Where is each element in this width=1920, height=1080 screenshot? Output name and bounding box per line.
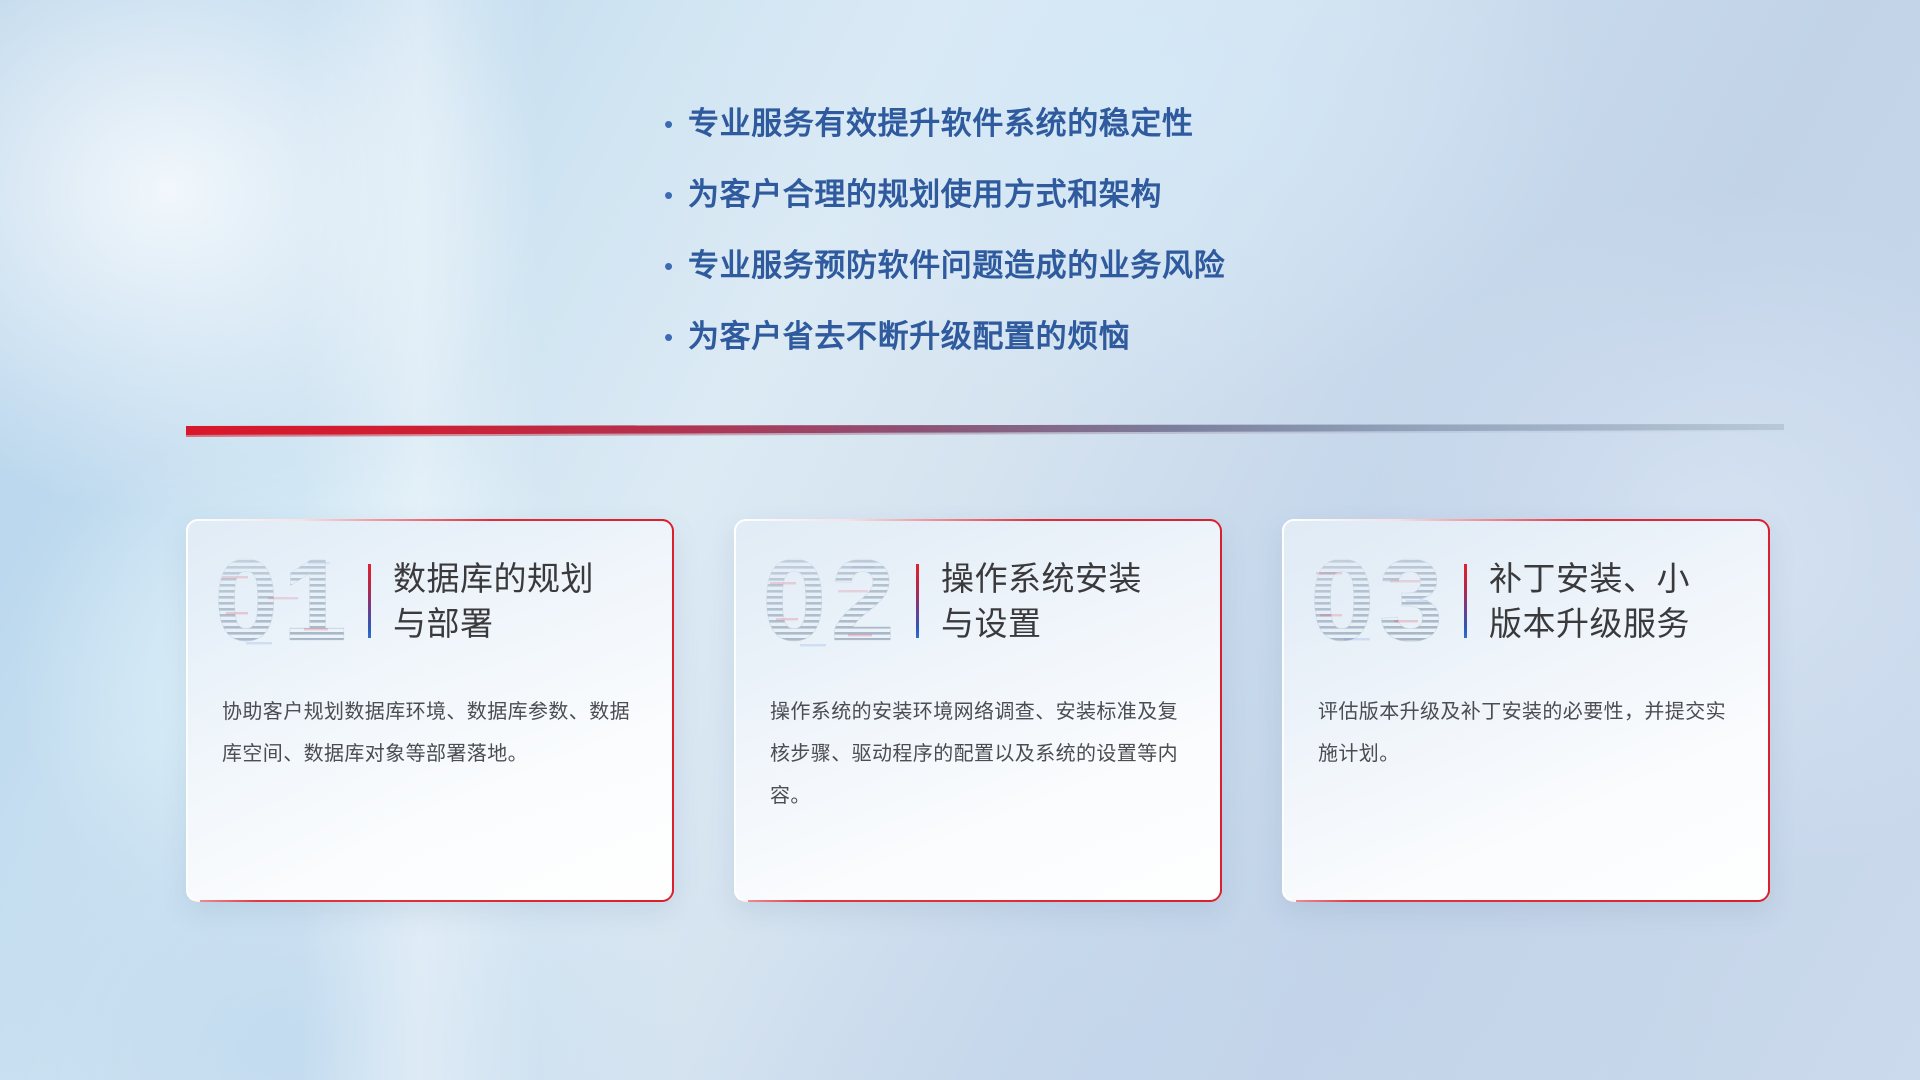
benefit-bullet-list: • 专业服务有效提升软件系统的稳定性 • 为客户合理的规划使用方式和架构 • 专…	[660, 104, 1480, 388]
bullet-text: 为客户省去不断升级配置的烦恼	[688, 317, 1130, 357]
card-corner-bottom-right	[1756, 888, 1770, 902]
card-title: 数据库的规划 与部署	[393, 556, 594, 646]
card-corner-bottom-left	[734, 888, 748, 902]
card-title: 操作系统安装 与设置	[941, 556, 1142, 646]
card-edge-bottom	[190, 900, 674, 902]
card-title: 补丁安装、小 版本升级服务	[1489, 556, 1690, 646]
card-edge-bottom	[1286, 900, 1770, 902]
card-description: 操作系统的安装环境网络调查、安装标准及复核步骤、驱动程序的配置以及系统的设置等内…	[770, 691, 1186, 817]
list-item: • 专业服务预防软件问题造成的业务风险	[660, 246, 1480, 286]
svg-text:02: 02	[762, 542, 899, 660]
bullet-dot-icon: •	[660, 175, 688, 215]
list-item: • 为客户合理的规划使用方式和架构	[660, 175, 1480, 215]
card-corner-bottom-left	[186, 888, 200, 902]
list-item: • 为客户省去不断升级配置的烦恼	[660, 317, 1480, 357]
list-item: • 专业服务有效提升软件系统的稳定性	[660, 104, 1480, 144]
bullet-text: 为客户合理的规划使用方式和架构	[688, 175, 1162, 215]
bullet-dot-icon: •	[660, 104, 688, 144]
slide-canvas: • 专业服务有效提升软件系统的稳定性 • 为客户合理的规划使用方式和架构 • 专…	[0, 0, 1920, 1080]
card-title-accent-rule	[368, 564, 371, 638]
card-edge-bottom	[738, 900, 1222, 902]
card-number-watermark: 01 01	[212, 542, 362, 660]
card-title-accent-rule	[1464, 564, 1467, 638]
service-card[interactable]: 02 02 操作系统安装 与设置	[734, 519, 1222, 902]
bullet-text: 专业服务预防软件问题造成的业务风险	[688, 246, 1225, 286]
bullet-dot-icon: •	[660, 317, 688, 357]
svg-text:01: 01	[214, 542, 351, 660]
card-header: 03 03 补丁安装、小 版本升级服务	[1282, 531, 1770, 671]
card-edge-top	[744, 519, 1222, 521]
card-corner-bottom-left	[1282, 888, 1296, 902]
card-header: 02 02 操作系统安装 与设置	[734, 531, 1222, 671]
service-card[interactable]: 01 01 数据库的规划 与部署	[186, 519, 674, 902]
card-header: 01 01 数据库的规划 与部署	[186, 531, 674, 671]
card-edge-top	[196, 519, 674, 521]
section-divider	[186, 424, 1784, 438]
bullet-text: 专业服务有效提升软件系统的稳定性	[688, 104, 1194, 144]
service-card[interactable]: 03 03 补丁安装、小 版本升级服务	[1282, 519, 1770, 902]
card-corner-bottom-right	[660, 888, 674, 902]
bullet-dot-icon: •	[660, 246, 688, 286]
service-card-row: 01 01 数据库的规划 与部署	[0, 519, 1920, 919]
card-title-accent-rule	[916, 564, 919, 638]
card-corner-bottom-right	[1208, 888, 1222, 902]
card-description: 协助客户规划数据库环境、数据库参数、数据库空间、数据库对象等部署落地。	[222, 691, 638, 775]
card-number-watermark: 03 03	[1308, 542, 1458, 660]
card-number-watermark: 02 02	[760, 542, 910, 660]
card-edge-top	[1292, 519, 1770, 521]
card-description: 评估版本升级及补丁安装的必要性，并提交实施计划。	[1318, 691, 1734, 775]
